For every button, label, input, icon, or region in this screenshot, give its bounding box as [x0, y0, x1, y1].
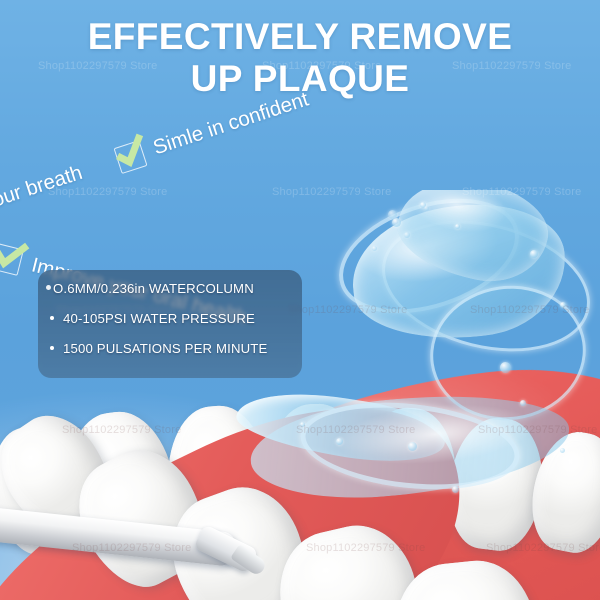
water-droplet: [336, 438, 343, 445]
bullet-icon: [50, 346, 54, 350]
bullet-icon: [46, 285, 51, 290]
water-droplet: [408, 442, 417, 451]
water-droplet: [500, 362, 511, 373]
advertisement-banner: Shop1102297579 Store Shop1102297579 Stor…: [0, 0, 600, 600]
spec-item-watercolumn: O.6MM/0.236in WATERCOLUMN: [46, 281, 292, 297]
watermark: Shop1102297579 Store: [72, 542, 191, 554]
water-droplet: [560, 448, 565, 453]
spec-text: O.6MM/0.236in WATERCOLUMN: [53, 281, 254, 297]
specification-panel: O.6MM/0.236in WATERCOLUMN 40-105PSI WATE…: [38, 270, 302, 378]
spec-text: 40-105PSI WATER PRESSURE: [63, 311, 255, 327]
bullet-icon: [50, 316, 54, 320]
watermark: Shop1102297579 Store: [486, 542, 600, 554]
spec-item-water-pressure: 40-105PSI WATER PRESSURE: [50, 311, 292, 327]
watermark: Shop1102297579 Store: [306, 542, 425, 554]
water-droplet: [452, 486, 459, 493]
spec-item-pulsations: 1500 PULSATIONS PER MINUTE: [50, 341, 292, 357]
checkmark-icon: [0, 243, 25, 276]
water-droplet: [520, 400, 526, 406]
headline-line-1: EFFECTIVELY REMOVE: [88, 16, 513, 57]
watermark: Shop1102297579 Store: [478, 424, 597, 436]
spec-text: 1500 PULSATIONS PER MINUTE: [63, 341, 267, 357]
watermark: Shop1102297579 Store: [296, 424, 415, 436]
watermark: Shop1102297579 Store: [62, 424, 181, 436]
checkmark-icon: [114, 139, 148, 173]
